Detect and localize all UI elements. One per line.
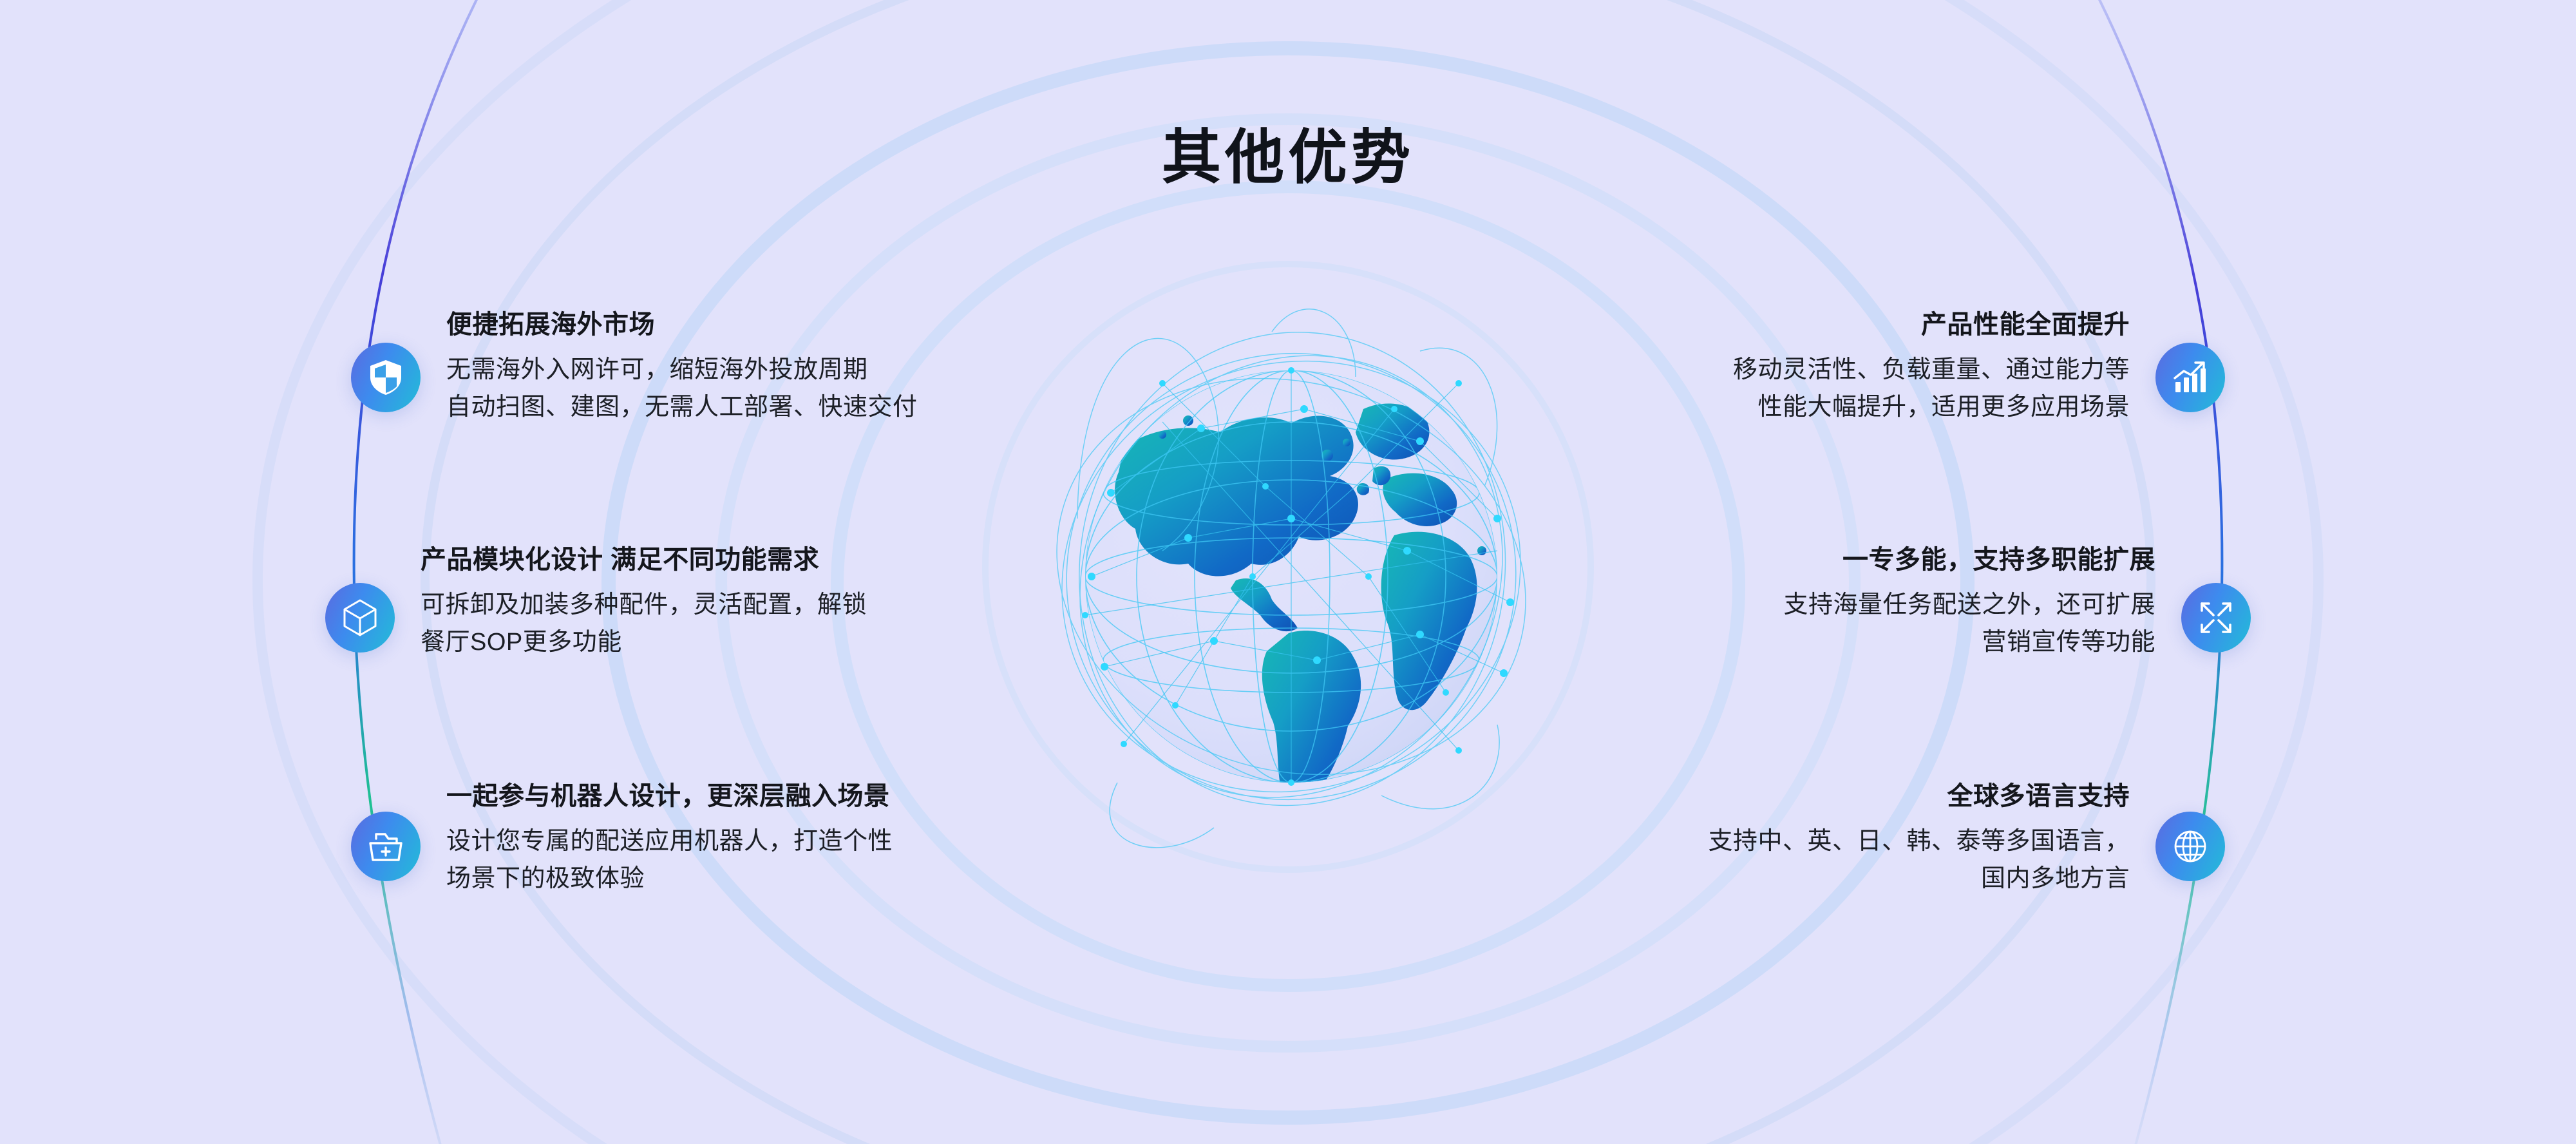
feature-line: 设计您专属的配送应用机器人，打造个性	[446, 823, 893, 861]
feature-icon-slot	[325, 544, 395, 653]
globe-icon[interactable]	[2155, 812, 2225, 881]
feature-text: 便捷拓展海外市场 无需海外入网许可，缩短海外投放周期 自动扫图、建图，无需人工部…	[446, 309, 918, 426]
feature-line: 可拆卸及加装多种配件，灵活配置，解锁	[421, 587, 867, 624]
feature-icon-slot	[2155, 781, 2225, 881]
feature-line: 移动灵活性、负载重量、通过能力等	[1733, 352, 2130, 389]
feature-line: 支持海量任务配送之外，还可扩展	[1783, 587, 2155, 624]
feature-line: 场景下的极致体验	[446, 861, 893, 898]
chart-growth-icon[interactable]	[2155, 343, 2225, 412]
feature-icon-slot	[351, 309, 421, 412]
feature-title: 一专多能，支持多职能扩展	[1783, 547, 2155, 573]
network-globe	[969, 216, 1613, 899]
feature-line: 国内多地方言	[1708, 861, 2130, 898]
feature-line: 性能大幅提升，适用更多应用场景	[1733, 389, 2130, 426]
feature-title: 产品性能全面提升	[1733, 312, 2130, 338]
feature-text: 一起参与机器人设计，更深层融入场景 设计您专属的配送应用机器人，打造个性 场景下…	[446, 781, 893, 898]
feature-icon-slot	[2181, 544, 2251, 653]
feature-title: 产品模块化设计 满足不同功能需求	[421, 547, 867, 573]
feature-item-0[interactable]: 便捷拓展海外市场 无需海外入网许可，缩短海外投放周期 自动扫图、建图，无需人工部…	[351, 309, 918, 426]
feature-item-5[interactable]: 全球多语言支持 支持中、英、日、韩、泰等多国语言， 国内多地方言	[1708, 781, 2225, 898]
feature-text: 一专多能，支持多职能扩展 支持海量任务配送之外，还可扩展 营销宣传等功能	[1783, 544, 2155, 662]
cube-icon[interactable]	[325, 583, 395, 653]
feature-item-4[interactable]: 一专多能，支持多职能扩展 支持海量任务配送之外，还可扩展 营销宣传等功能	[1783, 544, 2251, 662]
page-title: 其他优势	[0, 110, 2576, 195]
advantages-section: 其他优势	[0, 0, 2576, 1144]
folder-plus-icon[interactable]	[351, 812, 421, 881]
feature-title: 一起参与机器人设计，更深层融入场景	[446, 783, 893, 809]
feature-line: 无需海外入网许可，缩短海外投放周期	[446, 352, 918, 389]
feature-title: 全球多语言支持	[1708, 783, 2130, 809]
expand-arrows-icon[interactable]	[2181, 583, 2251, 653]
feature-item-3[interactable]: 产品性能全面提升 移动灵活性、负载重量、通过能力等 性能大幅提升，适用更多应用场…	[1733, 309, 2225, 426]
feature-item-2[interactable]: 一起参与机器人设计，更深层融入场景 设计您专属的配送应用机器人，打造个性 场景下…	[351, 781, 893, 898]
feature-line: 营销宣传等功能	[1783, 624, 2155, 662]
feature-line: 餐厅SOP更多功能	[421, 624, 867, 662]
feature-text: 产品模块化设计 满足不同功能需求 可拆卸及加装多种配件，灵活配置，解锁 餐厅SO…	[421, 544, 867, 662]
feature-line: 支持中、英、日、韩、泰等多国语言，	[1708, 823, 2130, 861]
feature-title: 便捷拓展海外市场	[446, 312, 918, 338]
feature-item-1[interactable]: 产品模块化设计 满足不同功能需求 可拆卸及加装多种配件，灵活配置，解锁 餐厅SO…	[325, 544, 867, 662]
shield-icon[interactable]	[351, 343, 421, 412]
feature-icon-slot	[2155, 309, 2225, 412]
feature-icon-slot	[351, 781, 421, 881]
feature-text: 全球多语言支持 支持中、英、日、韩、泰等多国语言， 国内多地方言	[1708, 781, 2130, 898]
feature-line: 自动扫图、建图，无需人工部署、快速交付	[446, 389, 918, 426]
feature-text: 产品性能全面提升 移动灵活性、负载重量、通过能力等 性能大幅提升，适用更多应用场…	[1733, 309, 2130, 426]
